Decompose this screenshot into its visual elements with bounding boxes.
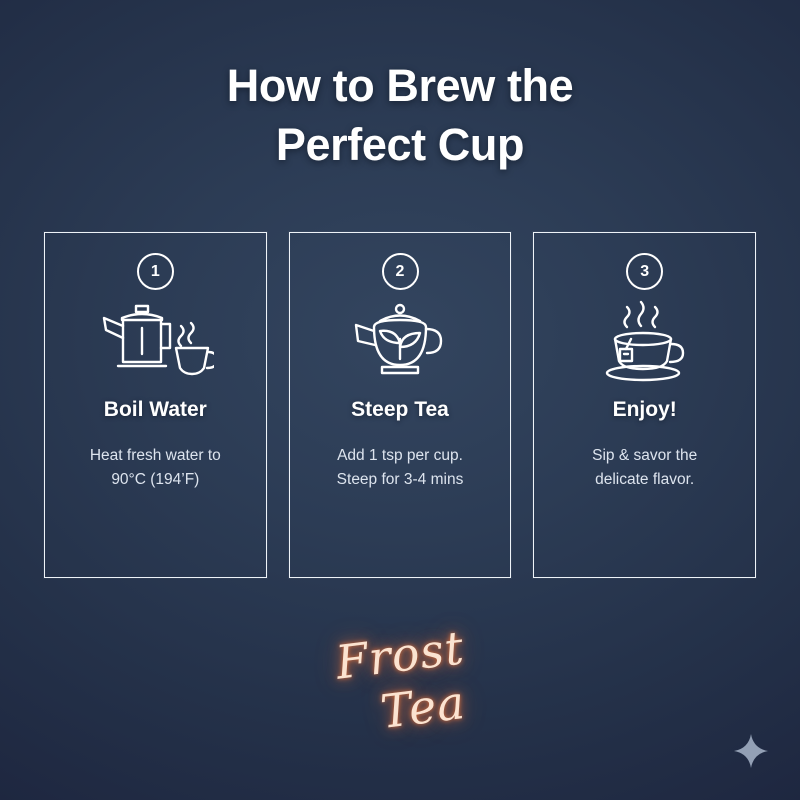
step-number-badge: 2 xyxy=(382,253,419,290)
step-title: Boil Water xyxy=(104,398,207,422)
four-point-star-icon xyxy=(734,734,768,768)
title-line-2: Perfect Cup xyxy=(0,115,800,174)
step-description-line-1: Add 1 tsp per cup. xyxy=(337,444,464,468)
kettle-and-cup-icon xyxy=(96,298,214,384)
step-card-steep-tea: 2 xyxy=(289,232,512,578)
steps-container: 1 xyxy=(44,232,756,578)
step-card-enjoy: 3 xyxy=(533,232,756,578)
step-description: Heat fresh water to 90°C (194’F) xyxy=(76,444,235,492)
step-card-boil-water: 1 xyxy=(44,232,267,578)
step-description: Add 1 tsp per cup. Steep for 3-4 mins xyxy=(323,444,478,492)
step-description-line-2: 90°C (194’F) xyxy=(90,468,221,492)
step-number-badge: 3 xyxy=(626,253,663,290)
step-description-line-2: Steep for 3-4 mins xyxy=(337,468,464,492)
step-title: Enjoy! xyxy=(613,398,677,422)
title-line-1: How to Brew the xyxy=(0,56,800,115)
step-description-line-1: Heat fresh water to xyxy=(90,444,221,468)
poster-canvas: How to Brew the Perfect Cup 1 xyxy=(0,0,800,800)
teacup-with-teabag-icon xyxy=(595,298,695,384)
page-title: How to Brew the Perfect Cup xyxy=(0,56,800,174)
teapot-with-leaves-icon xyxy=(344,298,456,384)
step-description: Sip & savor the delicate flavor. xyxy=(578,444,711,492)
step-description-line-2: delicate flavor. xyxy=(592,468,697,492)
step-description-line-1: Sip & savor the xyxy=(592,444,697,468)
brand-logo: Frost Tea xyxy=(0,632,800,730)
step-number-badge: 1 xyxy=(137,253,174,290)
step-title: Steep Tea xyxy=(351,398,449,422)
